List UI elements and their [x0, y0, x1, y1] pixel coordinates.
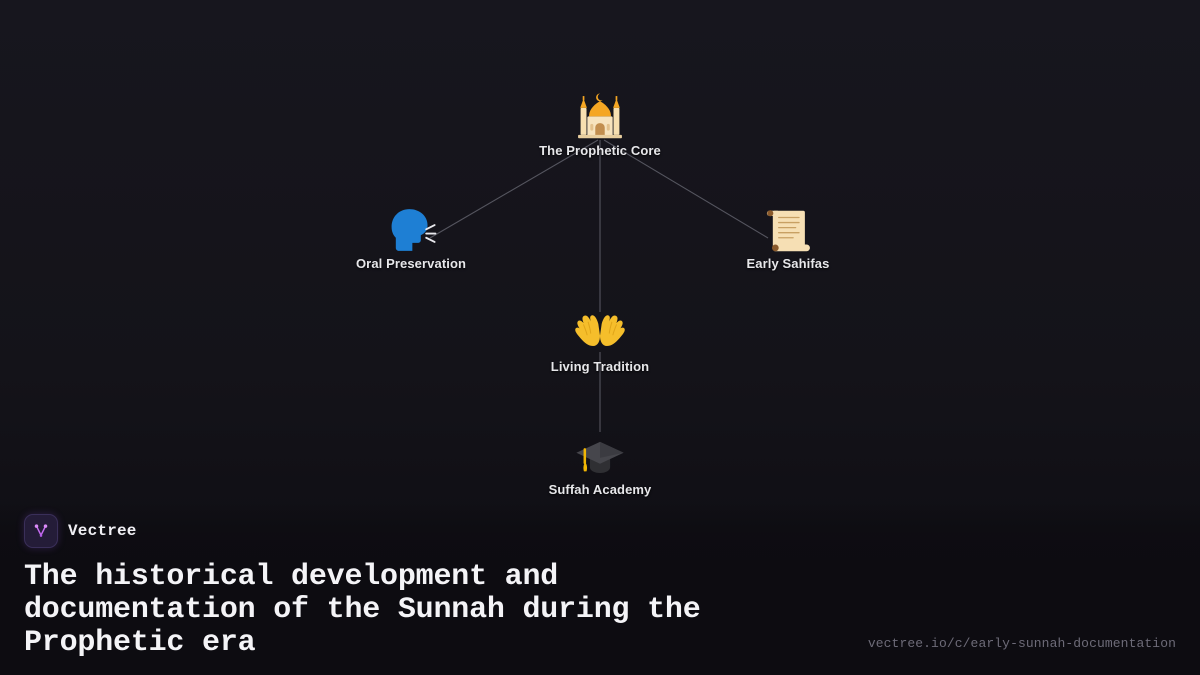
graph-node-early-sahifas[interactable]: Early Sahifas: [688, 200, 888, 271]
page-title: The historical development and documenta…: [24, 561, 904, 660]
graduation-cap-icon: [500, 426, 700, 480]
scroll-icon: [688, 200, 888, 254]
graph-node-label: The Prophetic Core: [500, 143, 700, 158]
vectree-logo-icon: [24, 514, 58, 548]
open-hands-icon: [500, 303, 700, 357]
brand-name: Vectree: [68, 522, 137, 540]
source-url: vectree.io/c/early-sunnah-documentation: [868, 636, 1176, 651]
graph-node-living-tradition[interactable]: Living Tradition: [500, 303, 700, 374]
graph-node-label: Early Sahifas: [688, 256, 888, 271]
bottom-info-bar: Vectree The historical development and d…: [0, 503, 1200, 675]
graph-node-suffah-academy[interactable]: Suffah Academy: [500, 426, 700, 497]
graph-node-oral-preservation[interactable]: Oral Preservation: [311, 200, 511, 271]
graph-node-label: Suffah Academy: [500, 482, 700, 497]
graph-node-label: Living Tradition: [500, 359, 700, 374]
mosque-icon: [500, 87, 700, 141]
brand-row: Vectree: [24, 503, 1176, 547]
graph-node-label: Oral Preservation: [311, 256, 511, 271]
speaking-head-icon: [311, 200, 511, 254]
graph-node-prophetic-core[interactable]: The Prophetic Core: [500, 87, 700, 158]
vectree-mindmap-screen: The Prophetic Core Oral Preservation: [0, 0, 1200, 675]
